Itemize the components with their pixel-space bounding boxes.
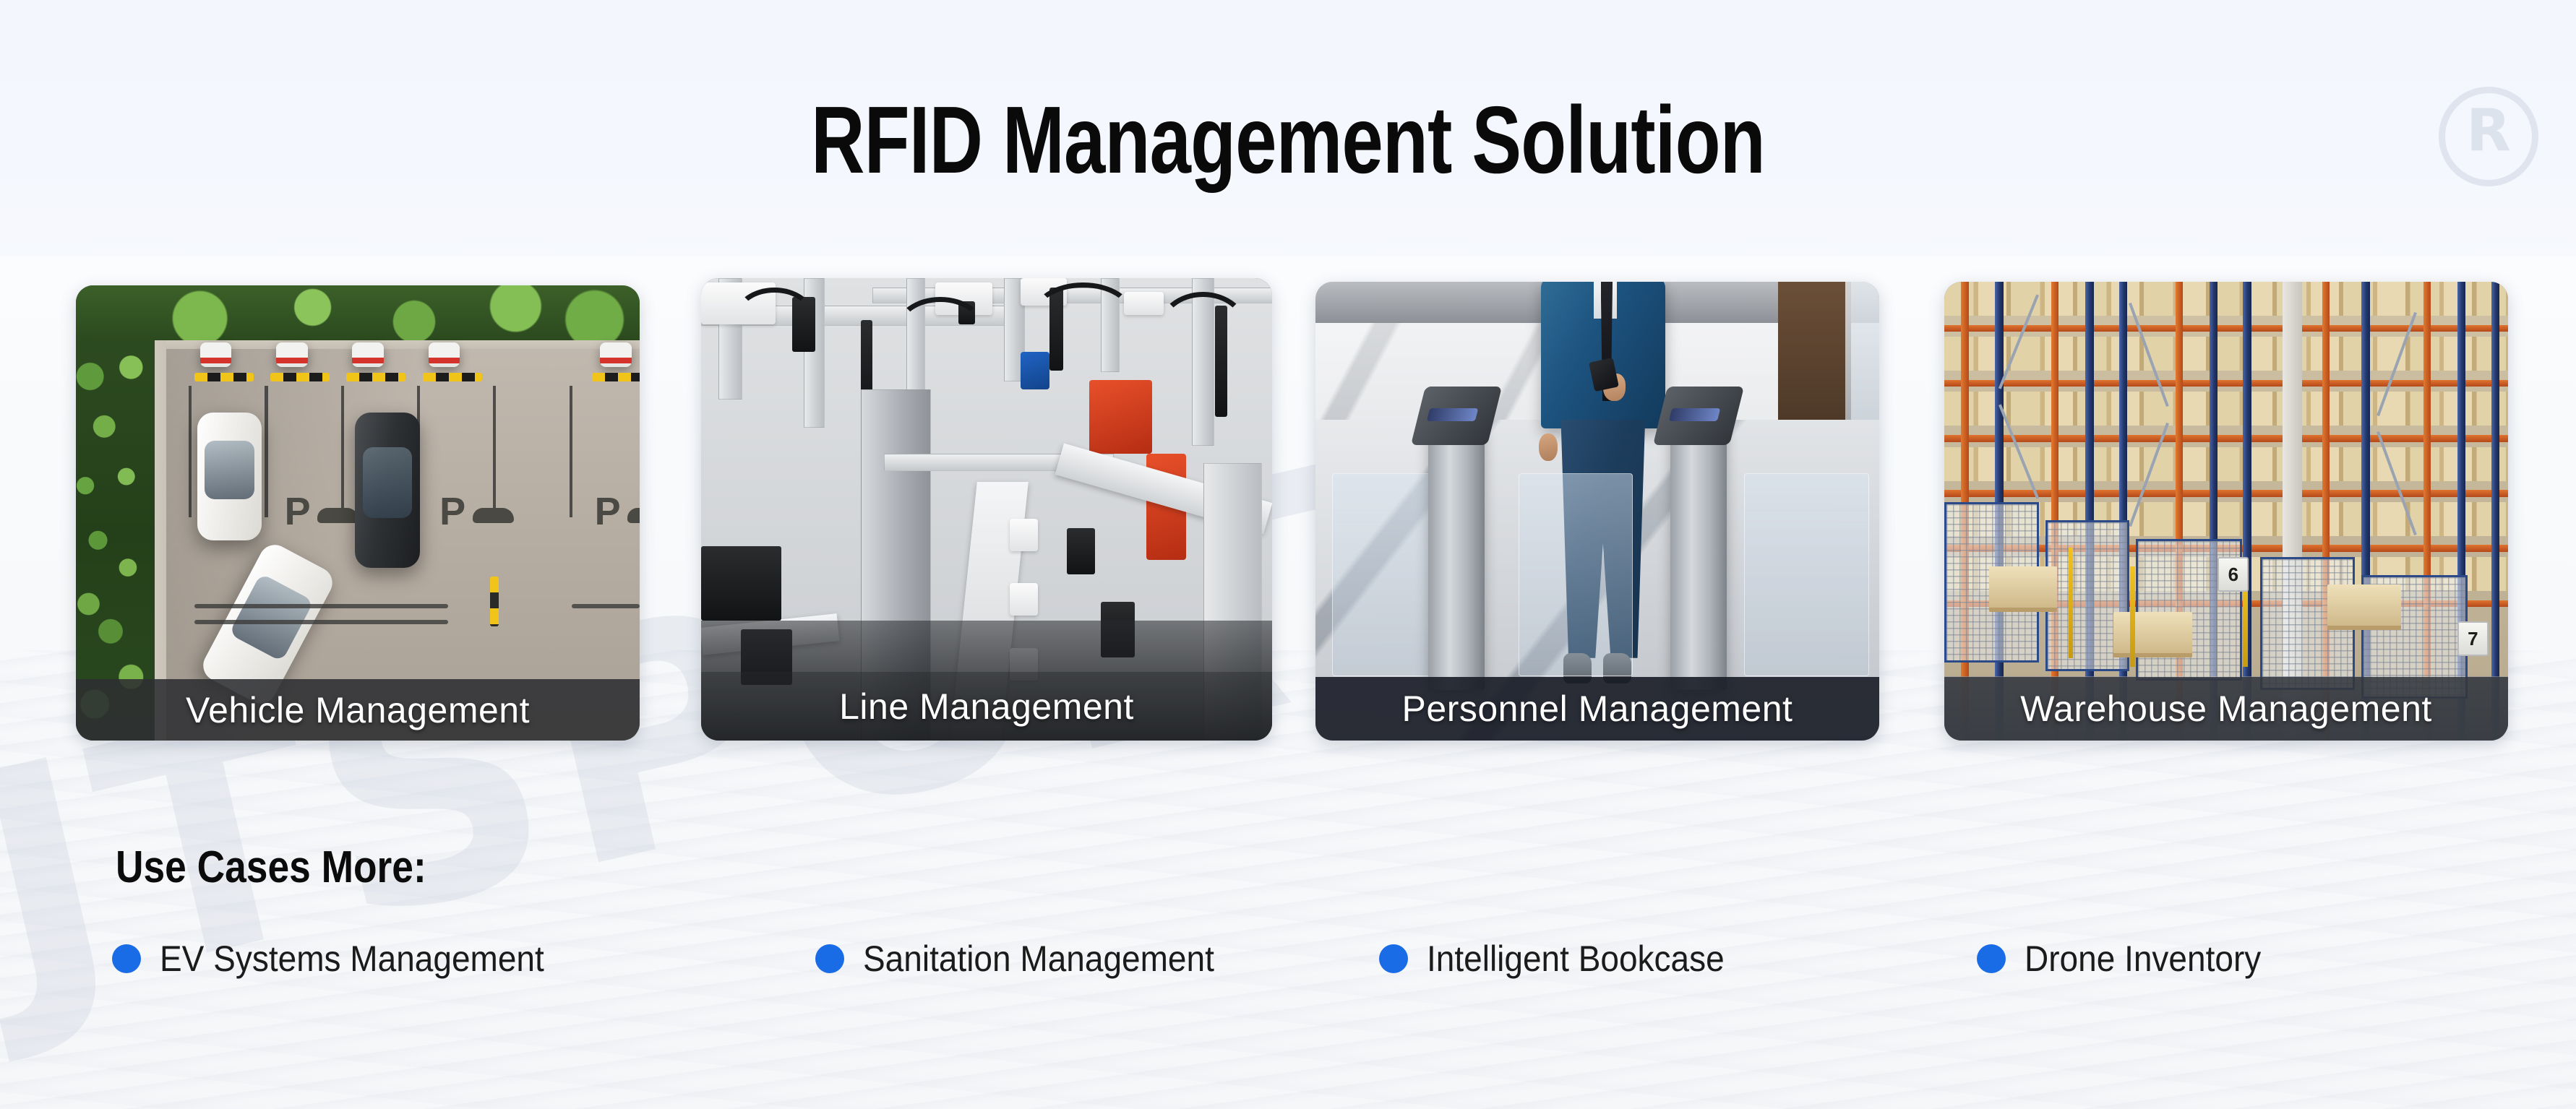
use-case-label: Sanitation Management	[863, 938, 1214, 980]
bullet-dot-icon	[1379, 944, 1408, 973]
use-case-item-drone-inventory[interactable]: Drone Inventory	[1977, 938, 2282, 980]
use-case-label: EV Systems Management	[160, 938, 544, 980]
solution-card-warehouse[interactable]: 6 7 Warehouse Management	[1944, 282, 2508, 741]
use-case-label: Intelligent Bookcase	[1427, 938, 1725, 980]
use-cases-list: EV Systems Management Sanitation Managem…	[0, 938, 2576, 996]
use-case-item-ev-systems[interactable]: EV Systems Management	[112, 938, 578, 980]
use-case-item-sanitation[interactable]: Sanitation Management	[815, 938, 1245, 980]
solution-card-vehicle[interactable]: Vehicle Management	[76, 285, 640, 741]
bullet-dot-icon	[1977, 944, 2006, 973]
bullet-dot-icon	[112, 944, 141, 973]
personnel-management-image	[1315, 282, 1879, 741]
warehouse-aisle-sign-7: 7	[2457, 621, 2489, 656]
use-case-label: Drone Inventory	[2025, 938, 2261, 980]
bullet-dot-icon	[815, 944, 844, 973]
use-case-item-intelligent-bookcase[interactable]: Intelligent Bookcase	[1379, 938, 1751, 980]
solution-card-line[interactable]: Line Management	[701, 278, 1272, 741]
vehicle-management-image	[76, 285, 640, 741]
solution-card-personnel[interactable]: Personnel Management	[1315, 282, 1879, 741]
warehouse-management-image: 6 7	[1944, 282, 2508, 741]
card-label-warehouse: Warehouse Management	[1944, 677, 2508, 741]
card-label-line: Line Management	[701, 672, 1272, 741]
line-management-image	[701, 278, 1272, 741]
card-label-personnel: Personnel Management	[1315, 677, 1879, 741]
use-cases-heading: Use Cases More:	[116, 842, 426, 893]
card-label-vehicle: Vehicle Management	[76, 679, 640, 741]
warehouse-aisle-sign-6: 6	[2217, 557, 2249, 592]
